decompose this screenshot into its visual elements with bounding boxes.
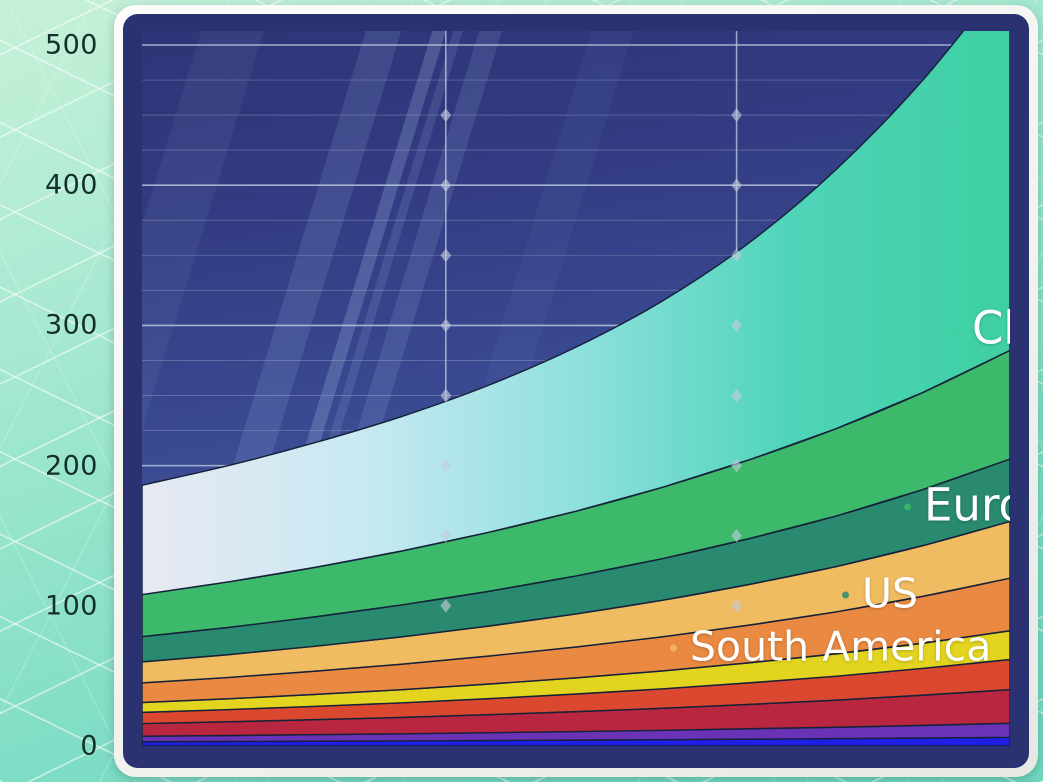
chart-frame: ChinaEuropeUSSouth America — [114, 5, 1038, 777]
y-axis-tick-label: 400 — [45, 170, 98, 201]
plot-area: ChinaEuropeUSSouth America — [142, 31, 1010, 746]
grid-marker — [731, 248, 742, 262]
grid-marker — [731, 599, 742, 613]
grid-marker — [731, 389, 742, 403]
grid-marker — [731, 108, 742, 122]
grid-marker — [440, 389, 451, 403]
y-axis-tick-label: 500 — [45, 30, 98, 61]
grid-marker — [440, 178, 451, 192]
y-axis-tick-label: 0 — [80, 731, 98, 762]
grid-marker — [440, 108, 451, 122]
grid-marker — [731, 319, 742, 333]
grid-marker — [731, 529, 742, 543]
chart-panel: ChinaEuropeUSSouth America — [123, 14, 1029, 768]
y-axis-tick-label: 300 — [45, 310, 98, 341]
grid-marker — [440, 459, 451, 473]
grid-marker — [440, 599, 451, 613]
grid-marker — [731, 459, 742, 473]
grid-marker — [731, 178, 742, 192]
y-axis-tick-label: 200 — [45, 450, 98, 481]
grid-marker — [440, 529, 451, 543]
grid-intersection-markers — [142, 31, 1010, 746]
grid-marker — [440, 319, 451, 333]
y-axis-tick-label: 100 — [45, 590, 98, 621]
grid-marker — [440, 248, 451, 262]
y-axis: 5004003002001000 — [0, 0, 108, 782]
